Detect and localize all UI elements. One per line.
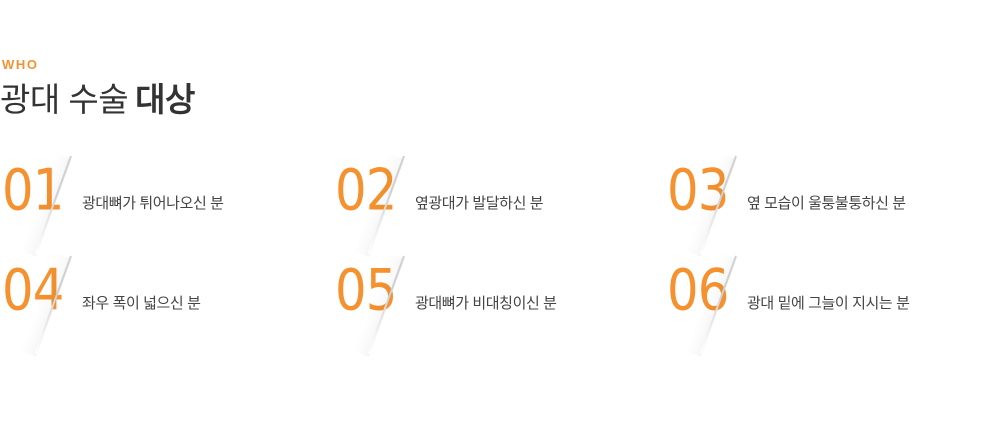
page-title-strong-part: 대상 <box>135 81 195 118</box>
list-item: 02 옆광대가 발달하신 분 <box>333 160 665 260</box>
item-number-wrap: 06 <box>665 260 751 360</box>
list-item: 01 광대뼈가 튀어나오신 분 <box>0 160 333 260</box>
list-item: 04 좌우 폭이 넓으신 분 <box>0 260 333 360</box>
candidate-list-grid: 01 광대뼈가 튀어나오신 분 02 옆광대가 발달하신 분 03 <box>0 160 1000 360</box>
list-item: 05 광대뼈가 비대칭이신 분 <box>333 260 665 360</box>
item-number-wrap: 02 <box>333 160 419 260</box>
item-number: 01 <box>2 162 63 219</box>
item-number-wrap: 03 <box>665 160 751 260</box>
list-item: 06 광대 밑에 그늘이 지시는 분 <box>665 260 1000 360</box>
list-item-label: 옆 모습이 울퉁불퉁하신 분 <box>747 196 906 211</box>
section-header: WHO 광대 수술대상 <box>0 58 195 119</box>
item-number: 06 <box>667 262 728 319</box>
list-item: 03 옆 모습이 울퉁불퉁하신 분 <box>665 160 1000 260</box>
list-item-label: 광대뼈가 비대칭이신 분 <box>415 296 557 311</box>
page-title: 광대 수술대상 <box>0 82 195 119</box>
page-title-light-part: 광대 수술 <box>0 81 128 118</box>
item-number-wrap: 05 <box>333 260 419 360</box>
item-number-wrap: 04 <box>0 260 86 360</box>
item-number-wrap: 01 <box>0 160 86 260</box>
list-item-label: 광대뼈가 튀어나오신 분 <box>82 196 224 211</box>
item-number: 02 <box>335 162 396 219</box>
item-number: 04 <box>2 262 63 319</box>
list-item-label: 좌우 폭이 넓으신 분 <box>82 296 201 311</box>
section-eyebrow-label: WHO <box>2 58 195 71</box>
list-item-label: 옆광대가 발달하신 분 <box>415 196 543 211</box>
item-number: 03 <box>667 162 728 219</box>
list-item-label: 광대 밑에 그늘이 지시는 분 <box>747 296 909 311</box>
who-section: WHO 광대 수술대상 01 광대뼈가 튀어나오신 분 02 <box>0 0 1000 425</box>
item-number: 05 <box>335 262 396 319</box>
